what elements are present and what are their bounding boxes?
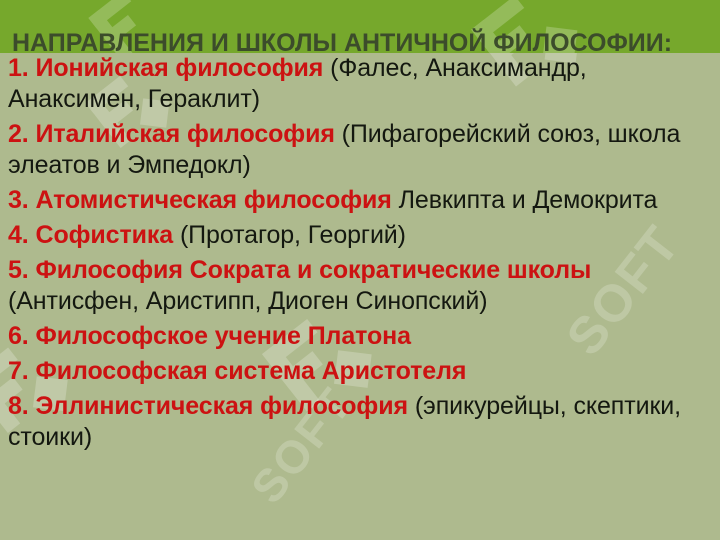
list-item: 8. Эллинистическая философия (эпикурейцы… — [0, 391, 720, 453]
list-item-heading: 5. Философия Сократа и сократические шко… — [8, 256, 591, 284]
presentation-slide: SOFT SOFT — [0, 0, 720, 540]
list-item-heading: 1. Ионийская философия — [8, 54, 323, 82]
list-item: 7. Философская система Аристотеля — [0, 356, 720, 387]
list-item-detail: Левкипта и Демокрита — [392, 186, 658, 214]
list-item: 4. Софистика (Протагор, Георгий) — [0, 220, 720, 251]
list-item: 2. Италийская философия (Пифагорейский с… — [0, 119, 720, 181]
list-item-detail: (Протагор, Георгий) — [173, 221, 406, 249]
list-item: 3. Атомистическая философия Левкипта и Д… — [0, 185, 720, 216]
list-item-heading: 8. Эллинистическая философия — [8, 392, 408, 420]
list-item-heading: 7. Философская система Аристотеля — [8, 357, 466, 385]
list-item: 1. Ионийская философия (Фалес, Анаксиман… — [0, 53, 720, 115]
list-item-heading: 4. Софистика — [8, 221, 173, 249]
list-item: 6. Философское учение Платона — [0, 321, 720, 352]
list-item-detail: (Антисфен, Аристипп, Диоген Синопский) — [8, 287, 488, 315]
list-item: 5. Философия Сократа и сократические шко… — [0, 255, 720, 317]
list-item-heading: 3. Атомистическая философия — [8, 186, 392, 214]
list-item-heading: 6. Философское учение Платона — [8, 322, 411, 350]
philosophy-schools-list: 1. Ионийская философия (Фалес, Анаксиман… — [0, 53, 720, 457]
list-item-heading: 2. Италийская философия — [8, 120, 335, 148]
